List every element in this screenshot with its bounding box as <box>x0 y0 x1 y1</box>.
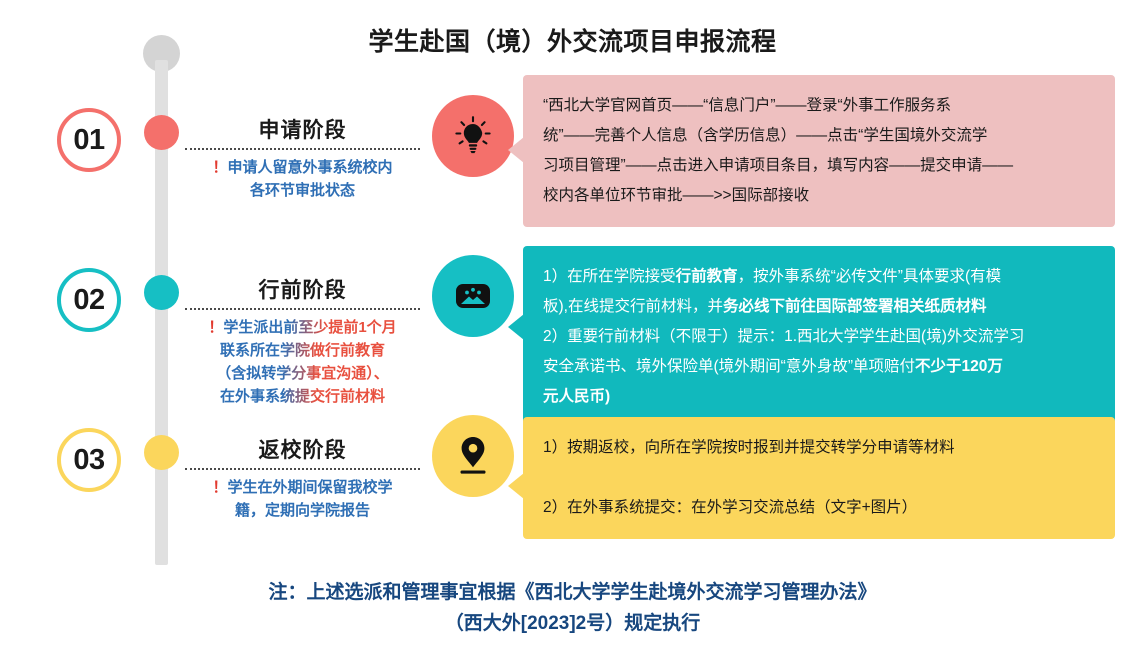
content-line: 统”——完善个人信息（含学历信息）——点击“学生国境外交流学 <box>543 121 1097 151</box>
map-pin-icon <box>452 433 494 479</box>
content-text: 2）重要行前材料（不限于）提示：1.西北大学学生赴国(境)外交流学习 <box>543 328 1024 345</box>
lightbulb-icon <box>450 113 496 159</box>
content-line: 1）按期返校，向所在学院按时报到并提交转学分申请等材料 <box>543 433 1097 463</box>
stage-number-badge-02: 02 <box>57 268 121 332</box>
stage-label-block-02: 行前阶段！学生派出前至少提前1个月联系所在学院做行前教育（含拟转学分事宜沟通）、… <box>185 278 420 408</box>
stage-icon-circle-03 <box>432 415 514 497</box>
callout-arrow <box>508 314 524 340</box>
content-line <box>543 463 1097 493</box>
stage-number-badge-03: 03 <box>57 428 121 492</box>
stage-note-line: 各环节审批状态 <box>185 179 420 202</box>
timeline-dot-03 <box>144 435 179 470</box>
content-text: 1）按期返校，向所在学院按时报到并提交转学分申请等材料 <box>543 439 955 456</box>
exclamation-icon: ！ <box>212 159 227 176</box>
stage-title: 申请阶段 <box>185 118 420 144</box>
infographic-canvas: 学生赴国（境）外交流项目申报流程 01申请阶段！申请人留意外事系统校内各环节审批… <box>0 0 1145 649</box>
stage-note-text: 联系所在学院做行前教育 <box>220 342 385 359</box>
content-text: 1）在所在学院接受 <box>543 268 676 285</box>
content-line: 2）重要行前材料（不限于）提示：1.西北大学学生赴国(境)外交流学习 <box>543 322 1097 352</box>
stage-divider <box>185 468 420 470</box>
footer-note-line1: 注：上述选派和管理事宜根据《西北大学学生赴境外交流学习管理办法》 <box>0 577 1145 608</box>
stage-note-text: 籍，定期向学院报告 <box>235 502 370 519</box>
stage-title: 返校阶段 <box>185 438 420 464</box>
stage-number-label: 03 <box>73 444 104 477</box>
content-emphasis: 不少于120万 <box>915 358 1003 375</box>
stage-note-line: 在外事系统提交行前材料 <box>185 385 420 408</box>
stage-note-line: 籍，定期向学院报告 <box>185 499 420 522</box>
content-text: 校内各单位环节审批——>>国际部接收 <box>543 187 809 204</box>
stage-content-box-01: “西北大学官网首页——“信息门户”——登录“外事工作服务系统”——完善个人信息（… <box>523 75 1115 227</box>
stage-number-label: 01 <box>73 124 104 157</box>
callout-arrow <box>508 137 524 163</box>
content-line: “西北大学官网首页——“信息门户”——登录“外事工作服务系 <box>543 91 1097 121</box>
landscape-icon <box>451 274 495 318</box>
stage-divider <box>185 148 420 150</box>
content-text: 板),在线提交行前材料，并 <box>543 298 723 315</box>
content-line: 习项目管理”——点击进入申请项目条目，填写内容——提交申请—— <box>543 151 1097 181</box>
timeline-dot-02 <box>144 275 179 310</box>
stage-note-text: 申请人留意外事系统校内 <box>228 159 393 176</box>
stage-number-label: 02 <box>73 284 104 317</box>
stage-title: 行前阶段 <box>185 278 420 304</box>
stage-note-line: ！学生在外期间保留我校学 <box>185 476 420 499</box>
content-line: 板),在线提交行前材料，并务必线下前往国际部签署相关纸质材料 <box>543 292 1097 322</box>
stage-note-line: ！学生派出前至少提前1个月 <box>185 316 420 339</box>
timeline-dot-01 <box>144 115 179 150</box>
content-text: 安全承诺书、境外保险单(境外期间“意外身故”单项赔付 <box>543 358 915 375</box>
stage-icon-circle-01 <box>432 95 514 177</box>
stage-content-box-03: 1）按期返校，向所在学院按时报到并提交转学分申请等材料 2）在外事系统提交：在外… <box>523 417 1115 539</box>
content-line: 2）在外事系统提交：在外学习交流总结（文字+图片） <box>543 493 1097 523</box>
stage-divider <box>185 308 420 310</box>
stage-number-badge-01: 01 <box>57 108 121 172</box>
stage-note-line: （含拟转学分事宜沟通）、 <box>185 362 420 385</box>
content-line: 元人民币) <box>543 382 1097 412</box>
content-text: 2）在外事系统提交：在外学习交流总结（文字+图片） <box>543 499 917 516</box>
content-text: 统”——完善个人信息（含学历信息）——点击“学生国境外交流学 <box>543 127 987 144</box>
stage-note-text: 学生派出前至少提前1个月 <box>223 319 396 336</box>
content-line: 1）在所在学院接受行前教育，按外事系统“必传文件”具体要求(有模 <box>543 262 1097 292</box>
stage-label-block-03: 返校阶段！学生在外期间保留我校学籍，定期向学院报告 <box>185 438 420 522</box>
content-line: 安全承诺书、境外保险单(境外期间“意外身故”单项赔付不少于120万 <box>543 352 1097 382</box>
content-emphasis: 元人民币) <box>543 388 610 405</box>
content-text: “西北大学官网首页——“信息门户”——登录“外事工作服务系 <box>543 97 951 114</box>
stage-note: ！学生派出前至少提前1个月联系所在学院做行前教育（含拟转学分事宜沟通）、在外事系… <box>185 316 420 408</box>
content-line: 校内各单位环节审批——>>国际部接收 <box>543 181 1097 211</box>
stage-note: ！申请人留意外事系统校内各环节审批状态 <box>185 156 420 202</box>
stage-content-box-02: 1）在所在学院接受行前教育，按外事系统“必传文件”具体要求(有模板),在线提交行… <box>523 246 1115 428</box>
stage-note-line: ！申请人留意外事系统校内 <box>185 156 420 179</box>
exclamation-icon: ！ <box>212 479 227 496</box>
stage-note-text: 在外事系统提交行前材料 <box>220 388 385 405</box>
stage-note: ！学生在外期间保留我校学籍，定期向学院报告 <box>185 476 420 522</box>
content-emphasis: 行前教育 <box>676 268 738 285</box>
callout-arrow <box>508 473 524 499</box>
exclamation-icon: ！ <box>208 319 223 336</box>
stage-label-block-01: 申请阶段！申请人留意外事系统校内各环节审批状态 <box>185 118 420 202</box>
stage-note-text: （含拟转学分事宜沟通）、 <box>216 365 389 382</box>
footer-note-line2: （西大外[2023]2号）规定执行 <box>0 608 1145 639</box>
content-text: 习项目管理”——点击进入申请项目条目，填写内容——提交申请—— <box>543 157 1013 174</box>
content-text: ，按外事系统“必传文件”具体要求(有模 <box>738 268 1002 285</box>
content-emphasis: 务必线下前往国际部签署相关纸质材料 <box>723 298 987 315</box>
stage-note-line: 联系所在学院做行前教育 <box>185 339 420 362</box>
stage-note-text: 学生在外期间保留我校学 <box>228 479 393 496</box>
stage-icon-circle-02 <box>432 255 514 337</box>
stage-note-text: 各环节审批状态 <box>250 182 355 199</box>
